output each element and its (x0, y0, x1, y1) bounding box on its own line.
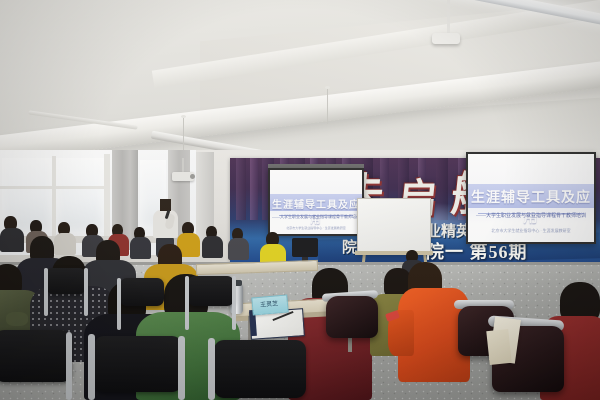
projector-mount-pole (447, 0, 450, 34)
light-hanger (327, 88, 328, 124)
chair-frame (185, 276, 189, 330)
slide-right-footer: 北京市大学生就业指导中心 · 生涯发展教研室 (468, 228, 594, 234)
paper-sheet (486, 329, 511, 365)
projection-screen-right: 生涯辅导工具及应用 ——大学生职业发展与就业指导课程骨干教师培训 北京市大学生就… (466, 152, 596, 244)
whiteboard (357, 198, 431, 254)
slide-left-footer: 北京市大学生就业指导中心 · 生涯发展教研室 (270, 226, 362, 230)
chair-frame (117, 278, 121, 330)
audience-body (130, 237, 151, 259)
light-hanger-cap (181, 115, 186, 118)
chair-back (120, 278, 164, 306)
chair-frame (44, 268, 48, 316)
slide-right-title: 生涯辅导工具及应用 (468, 187, 594, 227)
window-mullion (104, 154, 110, 238)
chair-back (46, 268, 86, 294)
audience-body (54, 233, 76, 255)
window-mullion (52, 156, 56, 236)
exec-chair (326, 296, 378, 338)
slide-left-subtitle: ——大学生职业发展与就业指导课程骨干教师培训 (270, 214, 362, 220)
slide-left: 生涯辅导工具及应用 ——大学生职业发展与就业指导课程骨干教师培训 北京市大学生就… (270, 170, 362, 234)
window-transom (0, 186, 106, 189)
chair-frame (232, 276, 236, 330)
light-hanger (183, 118, 184, 150)
window-pane (56, 158, 104, 232)
slide-right-subtitle: ——大学生职业发展与就业指导课程骨干教师培训 (468, 212, 594, 219)
photo-scene: 朱 启 航 业精英 院·系 院一 第56期 生涯辅导工具及应用 ——大学生职业发… (0, 0, 600, 400)
audience-body (228, 238, 249, 260)
projection-screen-left: 生涯辅导工具及应用 ——大学生职业发展与就业指导课程骨干教师培训 北京市大学生就… (268, 168, 364, 236)
slide-left-title: 生涯辅导工具及应用 (270, 196, 362, 226)
monitor (292, 238, 318, 257)
projector-lens (190, 174, 195, 179)
chair-frame (66, 332, 72, 400)
chair-back (188, 276, 234, 306)
chair-back (0, 330, 72, 382)
audience-body (0, 228, 24, 252)
presenter-head (160, 199, 171, 211)
chair-frame (178, 336, 185, 400)
chair-back (214, 340, 306, 398)
chair-frame (88, 334, 95, 400)
chair-back (94, 336, 182, 392)
audience-body (202, 236, 223, 258)
ceiling-projector (432, 33, 460, 44)
slide-right: 生涯辅导工具及应用 ——大学生职业发展与就业指导课程骨干教师培训 北京市大学生就… (468, 154, 594, 242)
camo-patch (6, 312, 28, 326)
light-hanger-cap (325, 86, 330, 89)
whiteboard-tray (355, 251, 433, 255)
chair-frame (84, 268, 88, 316)
chair-frame (208, 338, 215, 400)
